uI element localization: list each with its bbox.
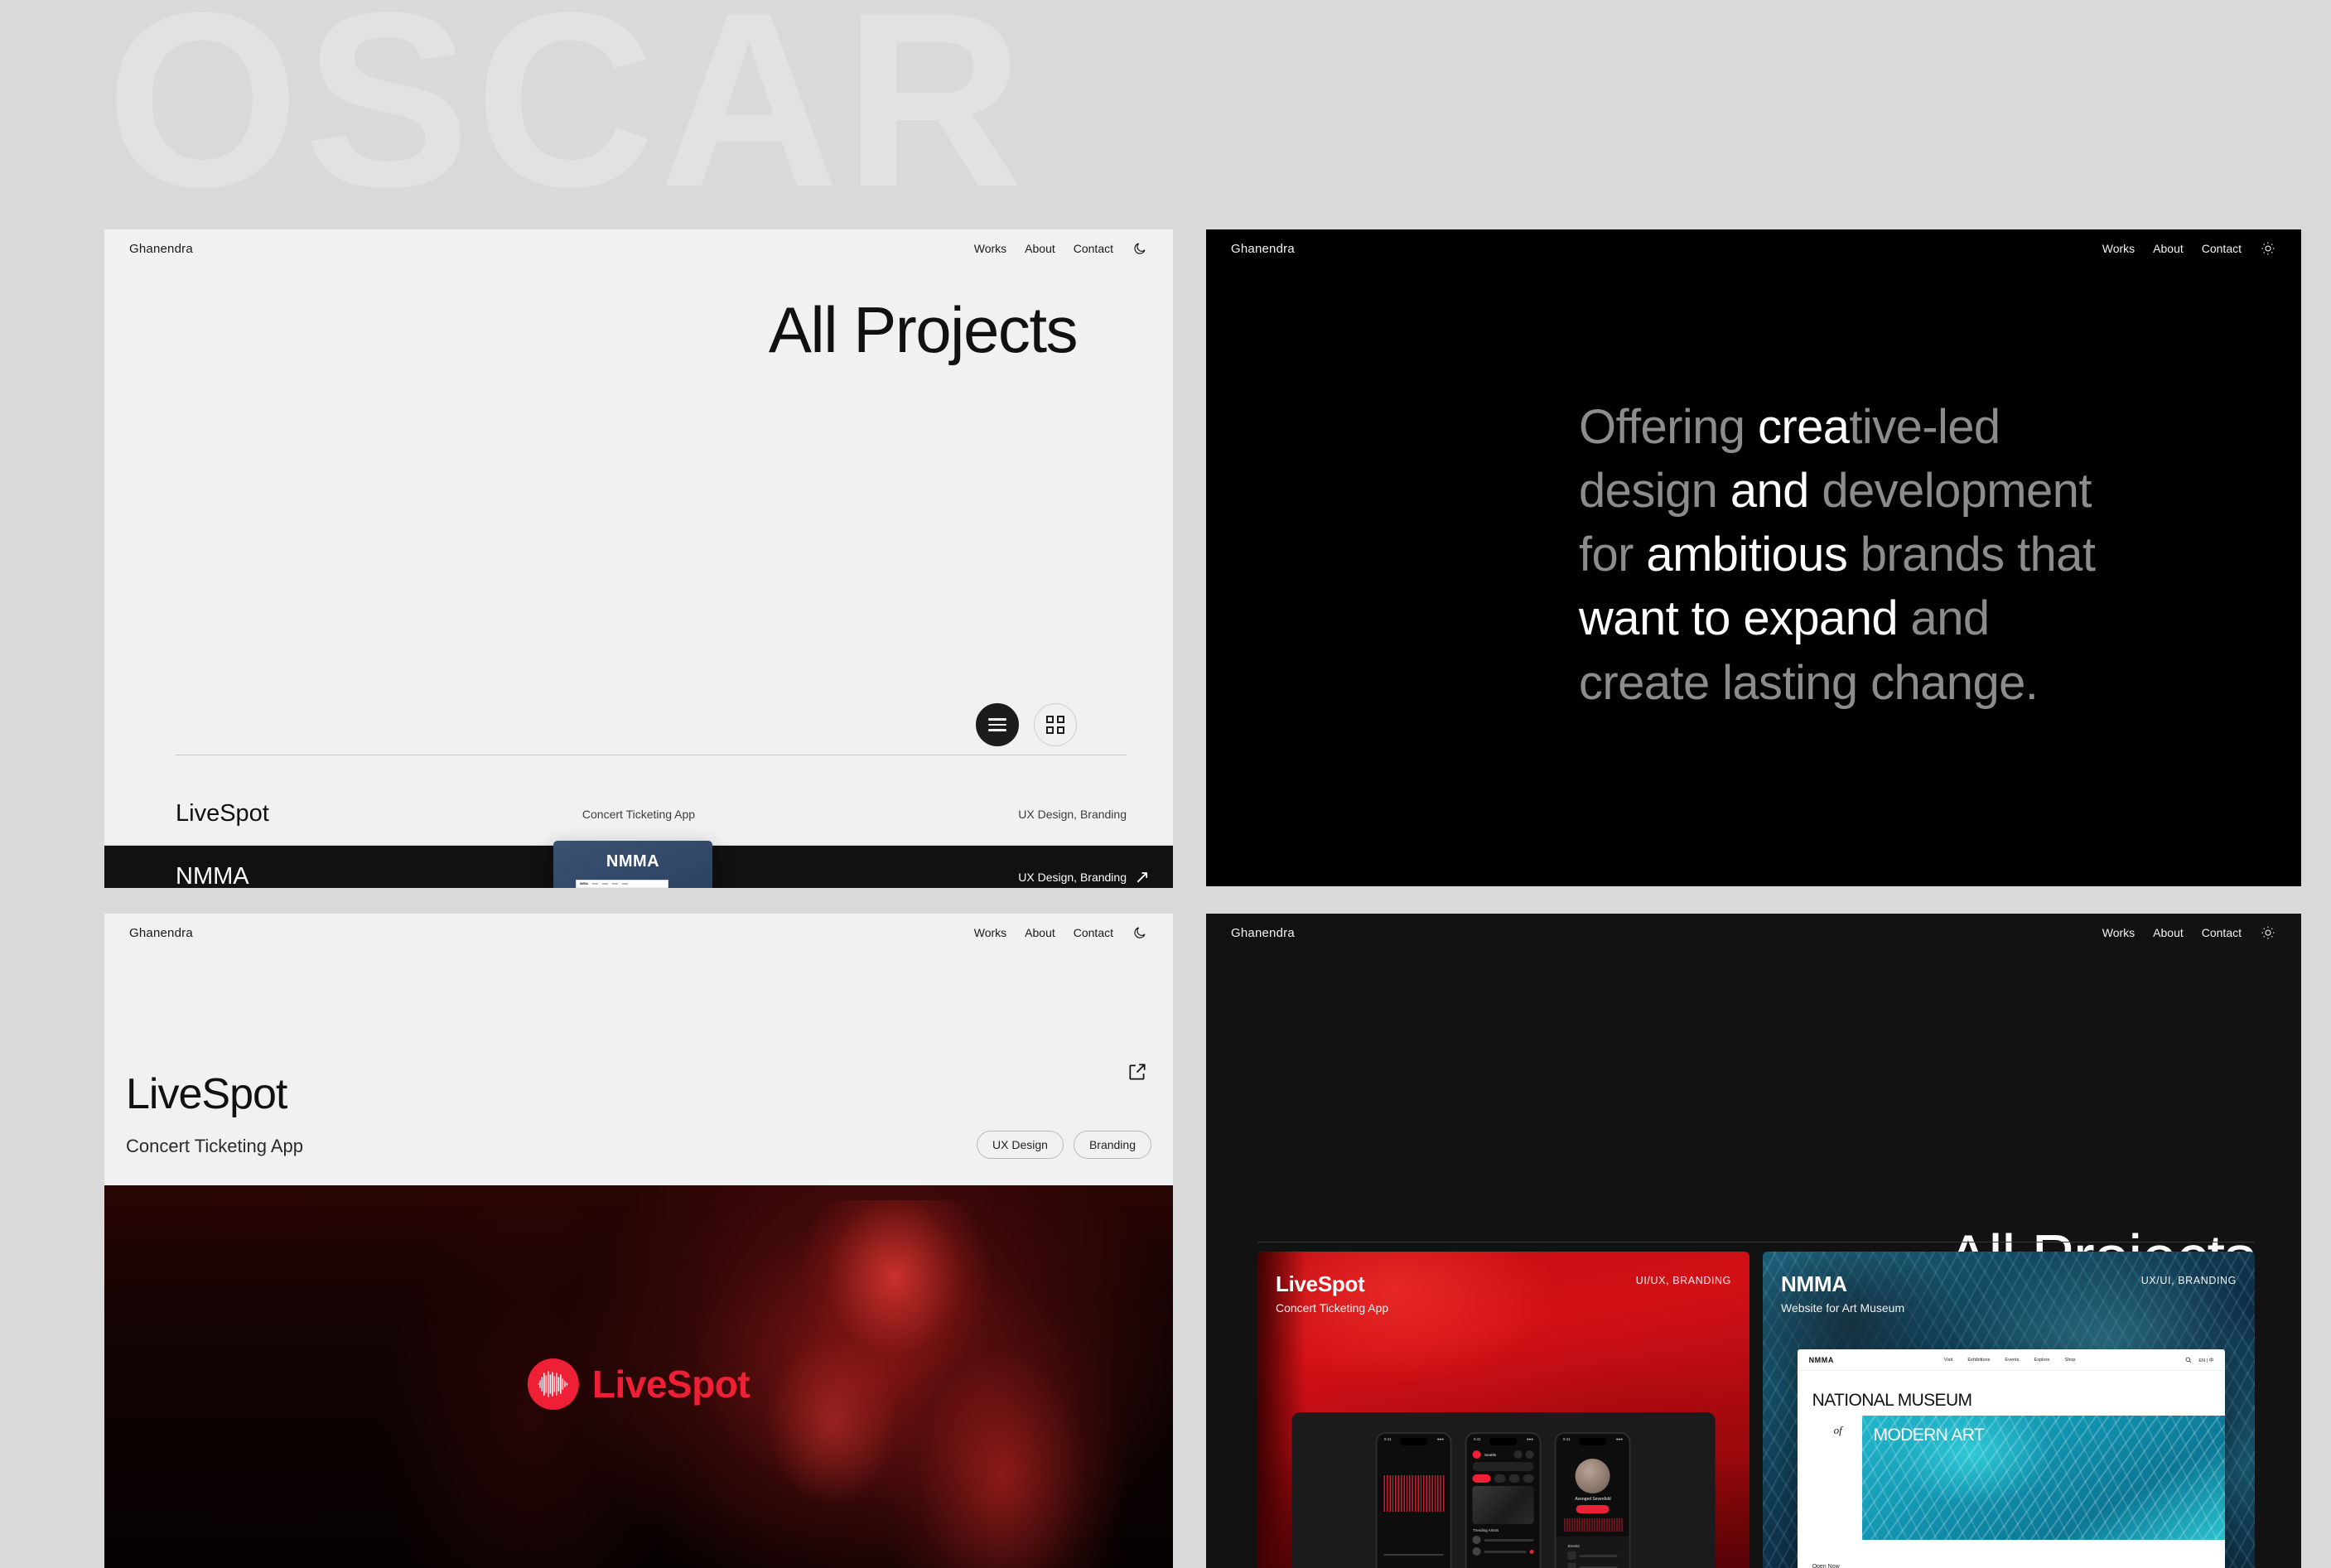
filter-chips xyxy=(1473,1474,1534,1483)
project-card-livespot[interactable]: LiveSpot Concert Ticketing App UI/UX, BR… xyxy=(1257,1252,1749,1568)
card-tag: UI/UX, BRANDING xyxy=(1636,1275,1731,1286)
statement-line-5: create lasting change. xyxy=(1579,656,2038,710)
arrow-up-right-icon: ↗ xyxy=(1135,868,1150,886)
artist-avatar xyxy=(1576,1459,1610,1493)
phone-mockup-group: 9:41●●● 9:41●●● Seattle xyxy=(1292,1412,1716,1568)
hover-card-mockup: NMMA NATIONAL MUSEUM MODERN ART xyxy=(571,880,695,888)
statement-line-3: for ambitious brands that xyxy=(1579,528,2095,581)
nav-link-about[interactable]: About xyxy=(1025,926,1055,939)
project-card-nmma[interactable]: NMMA Website for Art Museum UX/UI, BRAND… xyxy=(1763,1252,2255,1568)
panel-all-projects-dark: Ghanendra Works About Contact All Projec… xyxy=(1206,914,2301,1568)
phone-mockup-artist: 9:41●●● Avenged Sevenfold Events xyxy=(1555,1432,1631,1568)
tag-pill-branding[interactable]: Branding xyxy=(1074,1131,1151,1159)
singer-photo xyxy=(724,1200,1173,1568)
statement-line-1: Offering creative-led xyxy=(1579,400,2000,454)
nav-link-about[interactable]: About xyxy=(2153,242,2184,255)
mock-open-label: Open Now xyxy=(1812,1564,1840,1568)
project-name: LiveSpot xyxy=(176,800,424,827)
navbar-dark-1: Ghanendra Works About Contact xyxy=(1206,229,2301,268)
table-row[interactable]: LiveSpot Concert Ticketing App UX Design… xyxy=(104,783,1173,846)
panel-all-projects-light: Ghanendra Works About Contact All Projec… xyxy=(104,229,1173,888)
mock-nav-exhibitions[interactable]: Exhibitions xyxy=(1967,1358,1990,1363)
livespot-wordmark: LiveSpot xyxy=(592,1362,750,1406)
tag-pill-ux-design[interactable]: UX Design xyxy=(977,1131,1064,1159)
project-desc: Concert Ticketing App xyxy=(424,808,853,821)
phone-mockup-login: 9:41●●● xyxy=(1376,1432,1452,1568)
mock-navbar: NMMA xyxy=(577,880,668,888)
card-title: LiveSpot xyxy=(1276,1271,1364,1297)
project-tags: UX Design, Branding xyxy=(853,871,1127,884)
nmma-website-mockup: NMMA Visit Exhibitions Events Explore Sh… xyxy=(1798,1349,2226,1568)
brand-logo[interactable]: Ghanendra xyxy=(1231,242,1295,256)
statement-line-4: want to expand and xyxy=(1579,591,1990,645)
project-hover-preview-card: NMMA NMMA NATIONAL MUSEUM MODERN ART xyxy=(553,841,712,888)
nav-link-works[interactable]: Works xyxy=(2102,242,2135,255)
project-tags: UX Design, Branding xyxy=(853,808,1127,821)
statement-text: Offering creative-led design and develop… xyxy=(1579,395,2251,715)
external-link-icon[interactable] xyxy=(1127,1061,1148,1087)
project-subtitle: Concert Ticketing App xyxy=(126,1136,303,1157)
login-form xyxy=(1384,1541,1444,1568)
mock-logo: NMMA xyxy=(580,882,588,885)
mock-navbar: NMMA Visit Exhibitions Events Explore Sh… xyxy=(1798,1349,2226,1371)
statement-line-2: design and development xyxy=(1579,464,2092,518)
artist-name: Avenged Sevenfold xyxy=(1556,1497,1629,1502)
card-subtitle: Website for Art Museum xyxy=(1781,1301,1904,1315)
nav-link-contact[interactable]: Contact xyxy=(1074,926,1113,939)
hero-image: LiveSpot xyxy=(104,1185,1173,1568)
livespot-logo: LiveSpot xyxy=(528,1358,750,1410)
follow-button[interactable] xyxy=(1576,1505,1609,1513)
navbar-light-1: Ghanendra Works About Contact xyxy=(104,229,1173,268)
nav-link-works[interactable]: Works xyxy=(974,242,1006,255)
moon-icon[interactable] xyxy=(1132,240,1148,257)
nav-link-works[interactable]: Works xyxy=(2102,926,2135,939)
mock-nav-events[interactable]: Events xyxy=(2005,1358,2019,1363)
divider xyxy=(1257,1242,2255,1242)
sun-icon[interactable] xyxy=(2260,240,2276,257)
background-watermark: OSCAR xyxy=(106,0,1028,224)
featured-artist-image xyxy=(1473,1486,1534,1524)
project-title: LiveSpot xyxy=(126,1069,287,1119)
card-tag: UX/UI, BRANDING xyxy=(2141,1275,2237,1286)
mock-nav-utilities: EN | 中 xyxy=(2185,1357,2213,1363)
section-title: Trending Artists xyxy=(1473,1528,1534,1532)
view-toggle-group-light xyxy=(976,703,1077,746)
search-input[interactable] xyxy=(1473,1462,1534,1471)
view-list-button[interactable] xyxy=(976,703,1019,746)
panel-statement-dark: Ghanendra Works About Contact Offering c… xyxy=(1206,229,2301,886)
waveform-icon xyxy=(528,1358,579,1410)
view-grid-button[interactable] xyxy=(1034,703,1077,746)
mock-logo: NMMA xyxy=(1809,1356,1834,1364)
nav-links: Works About Contact xyxy=(2102,240,2276,257)
grid-icon xyxy=(1046,716,1064,734)
navbar-dark-2: Ghanendra Works About Contact xyxy=(1206,914,2301,952)
nav-link-works[interactable]: Works xyxy=(974,926,1006,939)
waveform-graphic xyxy=(1383,1475,1445,1512)
brand-logo[interactable]: Ghanendra xyxy=(1231,926,1295,940)
laptop-screen: NMMA NATIONAL MUSEUM MODERN ART xyxy=(576,880,668,888)
sun-icon[interactable] xyxy=(2260,924,2276,941)
nav-links: Works About Contact xyxy=(974,924,1148,941)
nav-link-contact[interactable]: Contact xyxy=(1074,242,1113,255)
search-icon[interactable] xyxy=(2185,1357,2192,1363)
panel-livespot-case: Ghanendra Works About Contact LiveSpot C… xyxy=(104,914,1173,1568)
card-subtitle: Concert Ticketing App xyxy=(1276,1301,1388,1315)
screenshot-stage: OSCAR Ghanendra Works About Contact All … xyxy=(0,0,2331,1568)
mock-lang-switch[interactable]: EN | 中 xyxy=(2198,1357,2213,1363)
project-card-grid: LiveSpot Concert Ticketing App UI/UX, BR… xyxy=(1257,1252,2255,1568)
events-list: Events xyxy=(1556,1537,1629,1568)
nav-link-about[interactable]: About xyxy=(1025,242,1055,255)
list-icon xyxy=(988,715,1006,735)
nav-link-contact[interactable]: Contact xyxy=(2202,926,2242,939)
brand-logo[interactable]: Ghanendra xyxy=(129,242,193,256)
project-name: NMMA xyxy=(176,863,424,888)
location-row: Seattle xyxy=(1473,1450,1534,1459)
phone-mockup-home: 9:41●●● Seattle Trend xyxy=(1465,1432,1542,1568)
tag-pill-group: UX Design Branding xyxy=(977,1131,1151,1159)
events-title: Events xyxy=(1568,1544,1618,1548)
nav-link-contact[interactable]: Contact xyxy=(2202,242,2242,255)
nav-link-about[interactable]: About xyxy=(2153,926,2184,939)
mock-headline-2: MODERN ART xyxy=(1874,1426,1985,1445)
mock-nav-explore[interactable]: Explore xyxy=(2034,1358,2050,1363)
hover-card-title: NMMA xyxy=(553,841,712,871)
mock-headline-of: of xyxy=(1834,1424,1842,1437)
brand-logo[interactable]: Ghanendra xyxy=(129,926,193,940)
card-title: NMMA xyxy=(1781,1271,1847,1297)
nav-links: Works About Contact xyxy=(974,240,1148,257)
moon-icon[interactable] xyxy=(1132,924,1148,941)
mock-nav-links: Visit Exhibitions Events Explore Shop xyxy=(1944,1358,2076,1363)
navbar-light-2: Ghanendra Works About Contact xyxy=(104,914,1173,952)
page-title: All Projects xyxy=(769,292,1077,368)
mock-nav-visit[interactable]: Visit xyxy=(1944,1358,1952,1363)
nav-links: Works About Contact xyxy=(2102,924,2276,941)
location-label: Seattle xyxy=(1484,1453,1496,1457)
mock-nav-shop[interactable]: Shop xyxy=(2064,1358,2075,1363)
mock-headline-1: NATIONAL MUSEUM xyxy=(1798,1371,2226,1411)
equalizer-graphic xyxy=(1563,1518,1623,1532)
divider xyxy=(176,755,1127,755)
mock-hero: of MODERN ART xyxy=(1798,1416,2226,1540)
